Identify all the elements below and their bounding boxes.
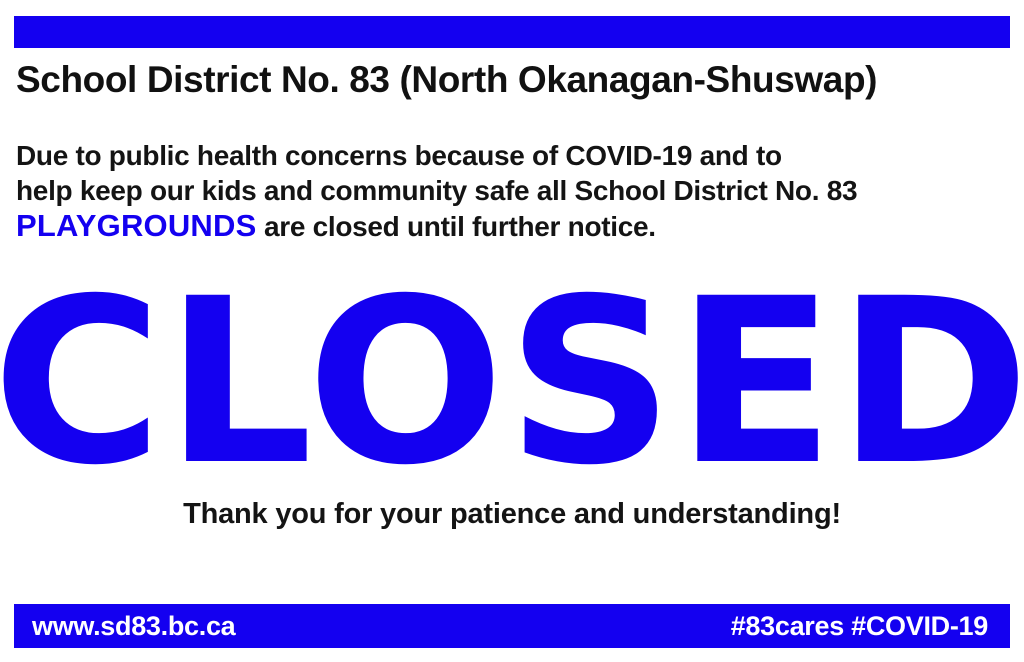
notice-body: Due to public health concerns because of…	[16, 138, 1016, 244]
notice-body-line-1: Due to public health concerns because of…	[16, 138, 1016, 173]
notice-body-line-3: PLAYGROUNDS are closed until further not…	[16, 208, 1016, 244]
top-accent-bar	[14, 16, 1010, 48]
thank-you-message: Thank you for your patience and understa…	[0, 498, 1024, 531]
notice-body-line-3-rest: are closed until further notice.	[256, 211, 655, 242]
closure-notice-poster: School District No. 83 (North Okanagan-S…	[0, 0, 1024, 662]
page-title: School District No. 83 (North Okanagan-S…	[16, 58, 1008, 102]
footer-hashtags: #83cares #COVID-19	[731, 611, 988, 642]
footer-bar: www.sd83.bc.ca #83cares #COVID-19	[14, 604, 1010, 648]
playgrounds-keyword: PLAYGROUNDS	[16, 208, 256, 243]
footer-website-link[interactable]: www.sd83.bc.ca	[32, 611, 235, 642]
notice-body-line-2: help keep our kids and community safe al…	[16, 173, 1016, 208]
closed-headline: CLOSED	[0, 268, 1024, 496]
